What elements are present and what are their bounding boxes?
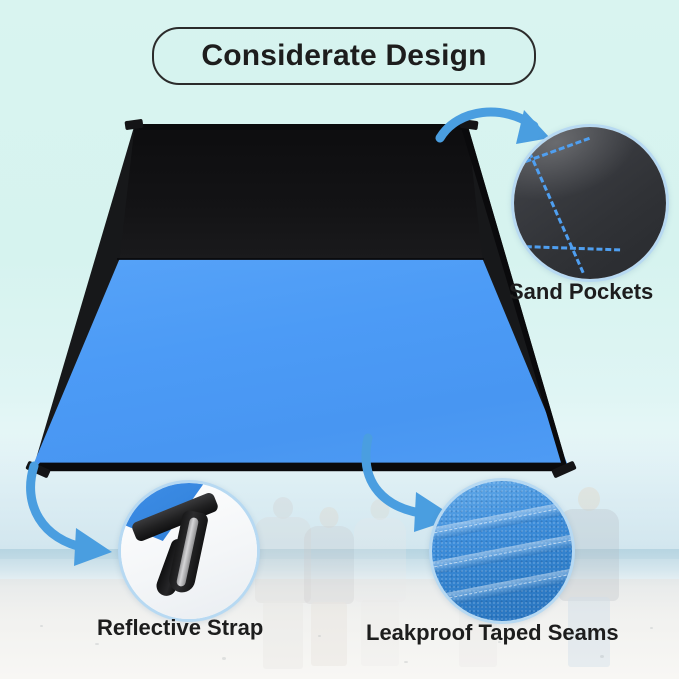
taped-seam-photo — [432, 481, 572, 621]
person-silhouette — [300, 507, 358, 667]
mat-center-seam — [117, 258, 483, 260]
person-legs — [311, 602, 347, 666]
person-torso — [304, 526, 354, 604]
callout-reflective-strap[interactable] — [118, 480, 260, 622]
callout-label-reflective-strap: Reflective Strap — [97, 615, 263, 641]
person-head — [320, 507, 339, 528]
callout-leakproof-taped-seams[interactable] — [429, 478, 575, 624]
fabric-highlight — [511, 124, 651, 211]
person-head — [371, 499, 390, 520]
sand-texture — [40, 625, 43, 627]
mat-blue-section — [28, 259, 573, 472]
sand-texture — [222, 657, 226, 660]
sand-texture — [318, 635, 321, 637]
sand-texture — [404, 661, 408, 663]
reflective-strap-photo — [121, 483, 257, 619]
title-banner: Considerate Design — [152, 27, 536, 85]
sand-pocket-photo — [511, 124, 669, 282]
callout-label-leakproof-taped-seams: Leakproof Taped Seams — [366, 620, 619, 646]
person-torso — [354, 518, 406, 602]
page-title: Considerate Design — [201, 39, 486, 73]
callout-sand-pockets[interactable] — [511, 124, 669, 282]
stitch-line-bottom — [511, 244, 620, 251]
person-head — [578, 487, 600, 511]
sand-texture — [600, 655, 604, 658]
person-head — [273, 497, 293, 519]
sand-texture — [95, 643, 99, 645]
sand-texture — [650, 627, 653, 629]
callout-label-sand-pockets: Sand Pockets — [509, 279, 653, 305]
person-legs — [263, 601, 303, 669]
beach-mat-product: FRELAXY® — [28, 124, 573, 476]
product-infographic: Considerate Design FRELAXY® — [0, 0, 679, 679]
